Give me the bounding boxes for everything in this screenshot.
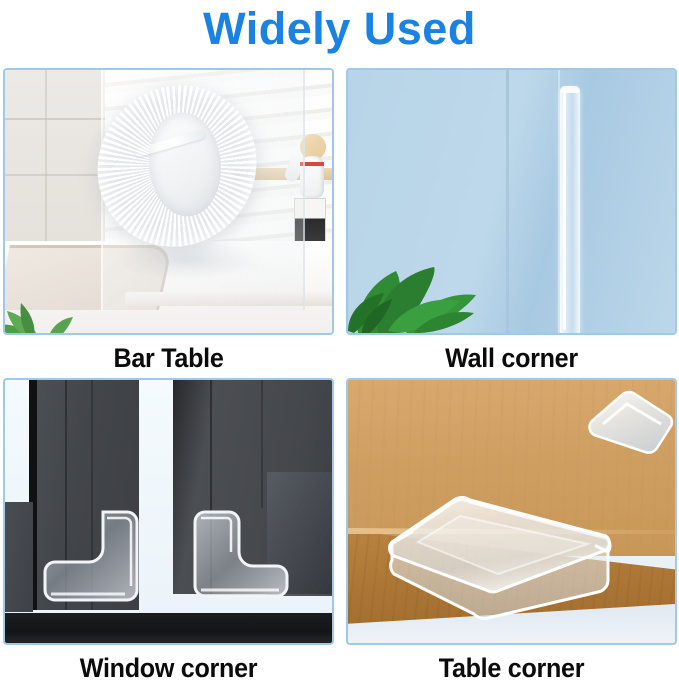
potted-plant (3, 271, 75, 335)
green-plant (348, 213, 488, 333)
tape-roll-core (142, 106, 227, 223)
window-base-track (3, 613, 334, 645)
panel-table-corner: Table corner (346, 378, 677, 684)
tape-roll-shadow (113, 240, 263, 280)
photo-window-corner (3, 378, 334, 645)
window-corner-icon (191, 508, 291, 602)
photo-bar-table (3, 68, 334, 335)
tile-seam (45, 70, 47, 265)
product-infographic: Widely Used (0, 0, 679, 676)
panel-wall-corner: Wall corner (346, 68, 677, 374)
panel-window-corner: Window corner (3, 378, 334, 684)
window-sill-left (5, 502, 33, 612)
caption-window-corner: Window corner (15, 652, 323, 684)
photo-wall-corner (346, 68, 677, 335)
guard-top-cap (560, 86, 580, 93)
window-corner-icon (41, 508, 141, 608)
table-corner-icon (577, 386, 677, 460)
guard-highlight (563, 90, 566, 330)
wall-shadow-seam (506, 70, 509, 333)
caption-wall-corner: Wall corner (358, 342, 666, 374)
frame-groove (261, 378, 263, 508)
page-title: Widely Used (0, 2, 679, 56)
caption-bar-table: Bar Table (15, 342, 323, 374)
photo-table-corner (346, 378, 677, 645)
panel-grid: Bar Table (0, 68, 679, 676)
caption-table-corner: Table corner (358, 652, 666, 684)
panel-bar-table: Bar Table (3, 68, 334, 374)
tile-seam (5, 118, 113, 120)
table-corner-icon (382, 468, 614, 620)
